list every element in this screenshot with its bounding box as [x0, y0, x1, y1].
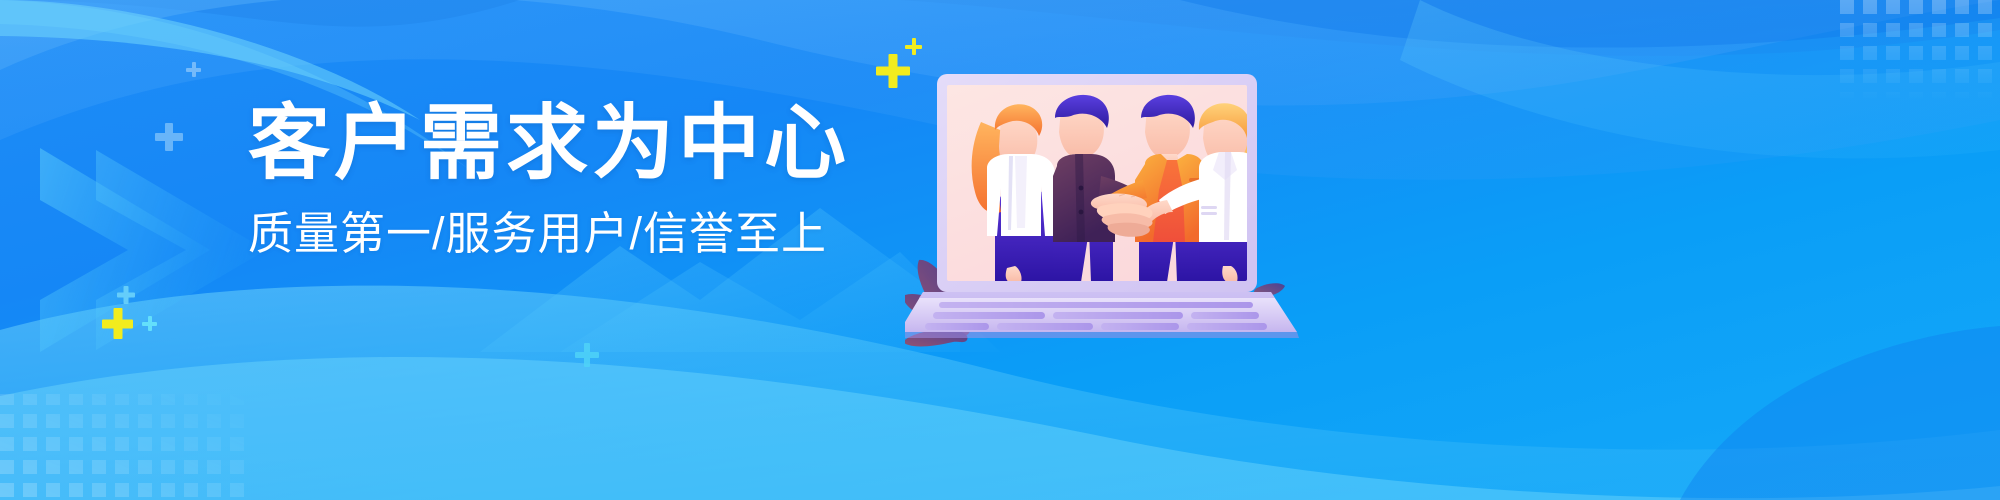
dot-grid-bottom-left: [0, 394, 250, 500]
laptop-team-illustration: [905, 60, 1305, 350]
hero-banner: 客户需求为中心 质量第一/服务用户/信誉至上: [0, 0, 2000, 500]
plus-cyan-center-icon: [575, 343, 599, 367]
banner-subtitle: 质量第一/服务用户/信誉至上: [248, 206, 888, 262]
banner-copy: 客户需求为中心 质量第一/服务用户/信誉至上: [248, 96, 888, 262]
plus-white-faint-upper-icon: [186, 62, 201, 77]
plus-cyan-left-icon: [117, 286, 135, 304]
plus-yellow-small-icon: [905, 38, 922, 55]
plus-yellow-bottom-left-icon: [102, 308, 133, 339]
plus-cyan-bottom-left-icon: [142, 316, 157, 331]
plus-white-faint-mid-icon: [155, 123, 183, 151]
dot-grid-top-right: [1840, 0, 2000, 100]
banner-headline: 客户需求为中心: [248, 96, 888, 192]
laptop-base-edge: [905, 332, 1299, 338]
